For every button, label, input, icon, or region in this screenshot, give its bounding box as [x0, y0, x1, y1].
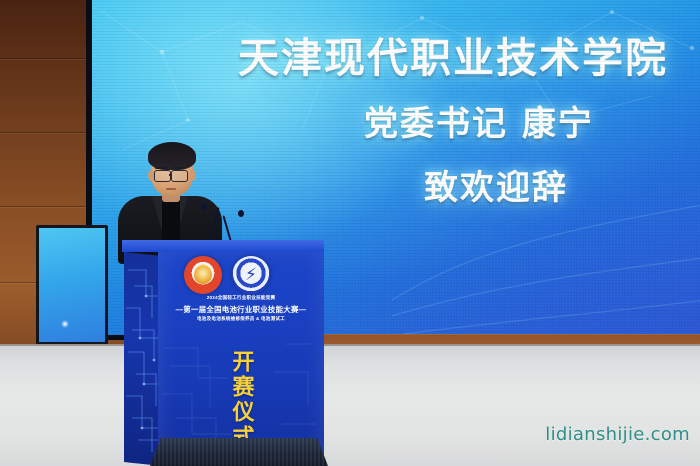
watermark: lidianshijie.com — [545, 424, 690, 445]
podium-front-panel: ⚡ 2024全国轻工行业职业技能竞赛 —第一届全国电池行业职业技能大赛— 电池及… — [158, 248, 324, 466]
eyeglasses — [154, 170, 171, 182]
podium: ⚡ 2024全国轻工行业职业技能竞赛 —第一届全国电池行业职业技能大赛— 电池及… — [158, 248, 324, 466]
microphone-head — [201, 203, 207, 210]
side-display-monitor — [36, 225, 108, 345]
competition-emblem-left — [184, 256, 222, 294]
podium-top-surface — [122, 240, 324, 252]
podium-vertical-text: 开赛仪式 — [229, 350, 252, 450]
stage-monitor-speaker — [150, 438, 328, 466]
podium-text-line1: 2024全国轻工行业职业技能竞赛 — [158, 295, 324, 301]
screenshot-root: 天津现代职业技术学院 党委书记 康宁 致欢迎辞 — [0, 0, 700, 466]
lightning-bolt-icon: ⚡ — [245, 266, 257, 283]
podium-text-line2: —第一届全国电池行业职业技能大赛— — [158, 304, 324, 315]
competition-emblem-right: ⚡ — [232, 256, 270, 294]
microphone-head — [238, 210, 244, 217]
stage-floor — [0, 344, 700, 466]
podium-text-line3: 电池及电池系统维修保养员 & 电池测试工 — [158, 316, 324, 322]
